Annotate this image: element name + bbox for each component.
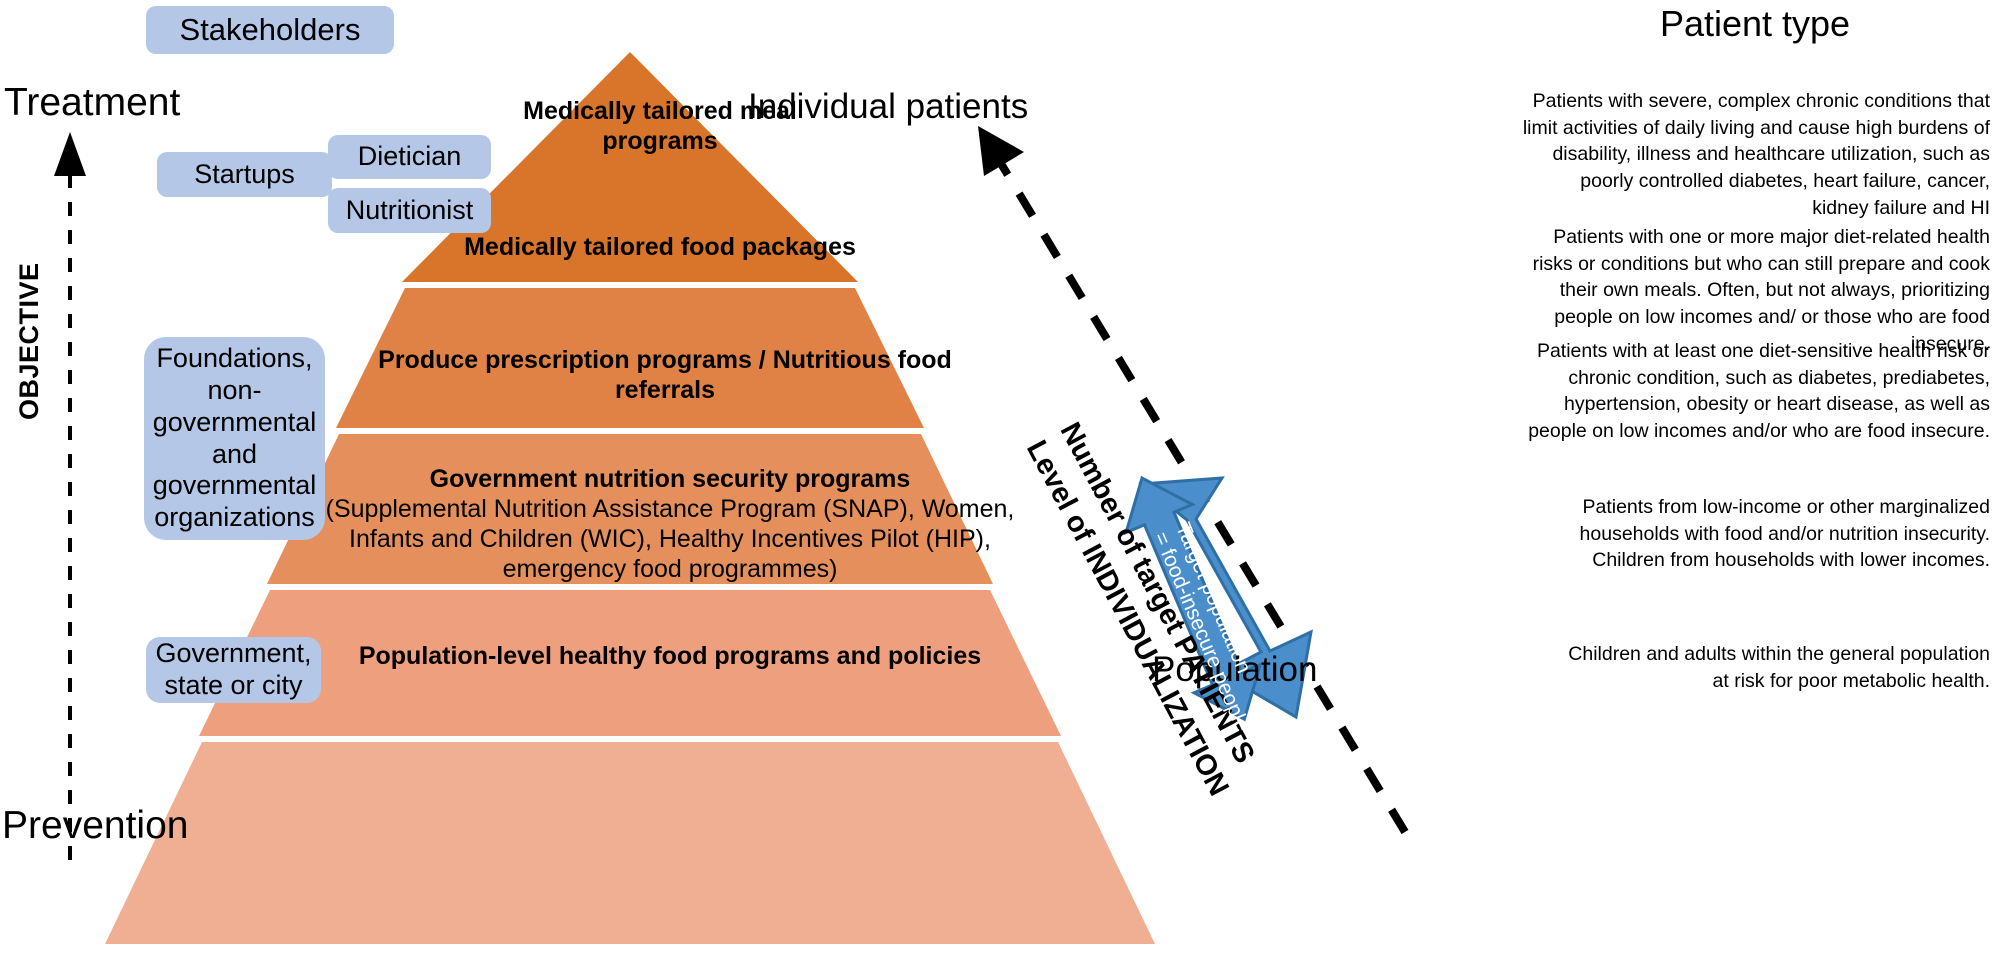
patient-type-paragraph-5: Children and adults within the general p…	[1560, 641, 1990, 694]
patient-type-title: Patient type	[1520, 3, 1990, 45]
axis-vertical-label: OBJECTIVE	[14, 262, 45, 420]
stakeholders-header: Stakeholders	[146, 6, 394, 54]
target-population-arrow-labels: Target population = food-insecure people	[1196, 533, 1197, 534]
stakeholder-foundations[interactable]: Foundations, non-governmental and govern…	[144, 337, 325, 540]
stakeholder-nutritionist[interactable]: Nutritionist	[328, 188, 491, 233]
diagonal-axis-labels: Number of target PATIENTS Level of INDIV…	[935, 218, 936, 219]
pyramid-tier-4-detail: (Supplemental Nutrition Assistance Progr…	[326, 495, 1015, 583]
pyramid-tier-4-label: Government nutrition security programs (…	[300, 464, 1040, 584]
patient-type-paragraph-3: Patients with at least one diet-sensitiv…	[1520, 338, 1990, 445]
patient-type-paragraph-1: Patients with severe, complex chronic co…	[1520, 88, 1990, 222]
pyramid-tier-4-title: Government nutrition security programs	[300, 464, 1040, 494]
pyramid-tier-3-label: Produce prescription programs / Nutritio…	[370, 345, 960, 405]
stakeholder-dietician[interactable]: Dietician	[328, 135, 491, 179]
pyramid-tier-5-label: Population-level healthy food programs a…	[270, 641, 1070, 671]
right-axis-top-label: Individual patients	[748, 87, 1028, 127]
axis-top-label: Treatment	[4, 83, 180, 122]
pyramid-tier-2-label: Medically tailored food packages	[430, 232, 890, 262]
diagram-canvas: Treatment Prevention OBJECTIVE Stakehold…	[0, 0, 2000, 971]
objective-axis-arrow	[54, 132, 86, 860]
axis-bottom-label: Prevention	[2, 806, 188, 845]
stakeholder-startups[interactable]: Startups	[157, 152, 332, 197]
patient-type-paragraph-4: Patients from low-income or other margin…	[1520, 494, 1990, 574]
pyramid-tier-5-shape[interactable]	[105, 742, 1155, 944]
